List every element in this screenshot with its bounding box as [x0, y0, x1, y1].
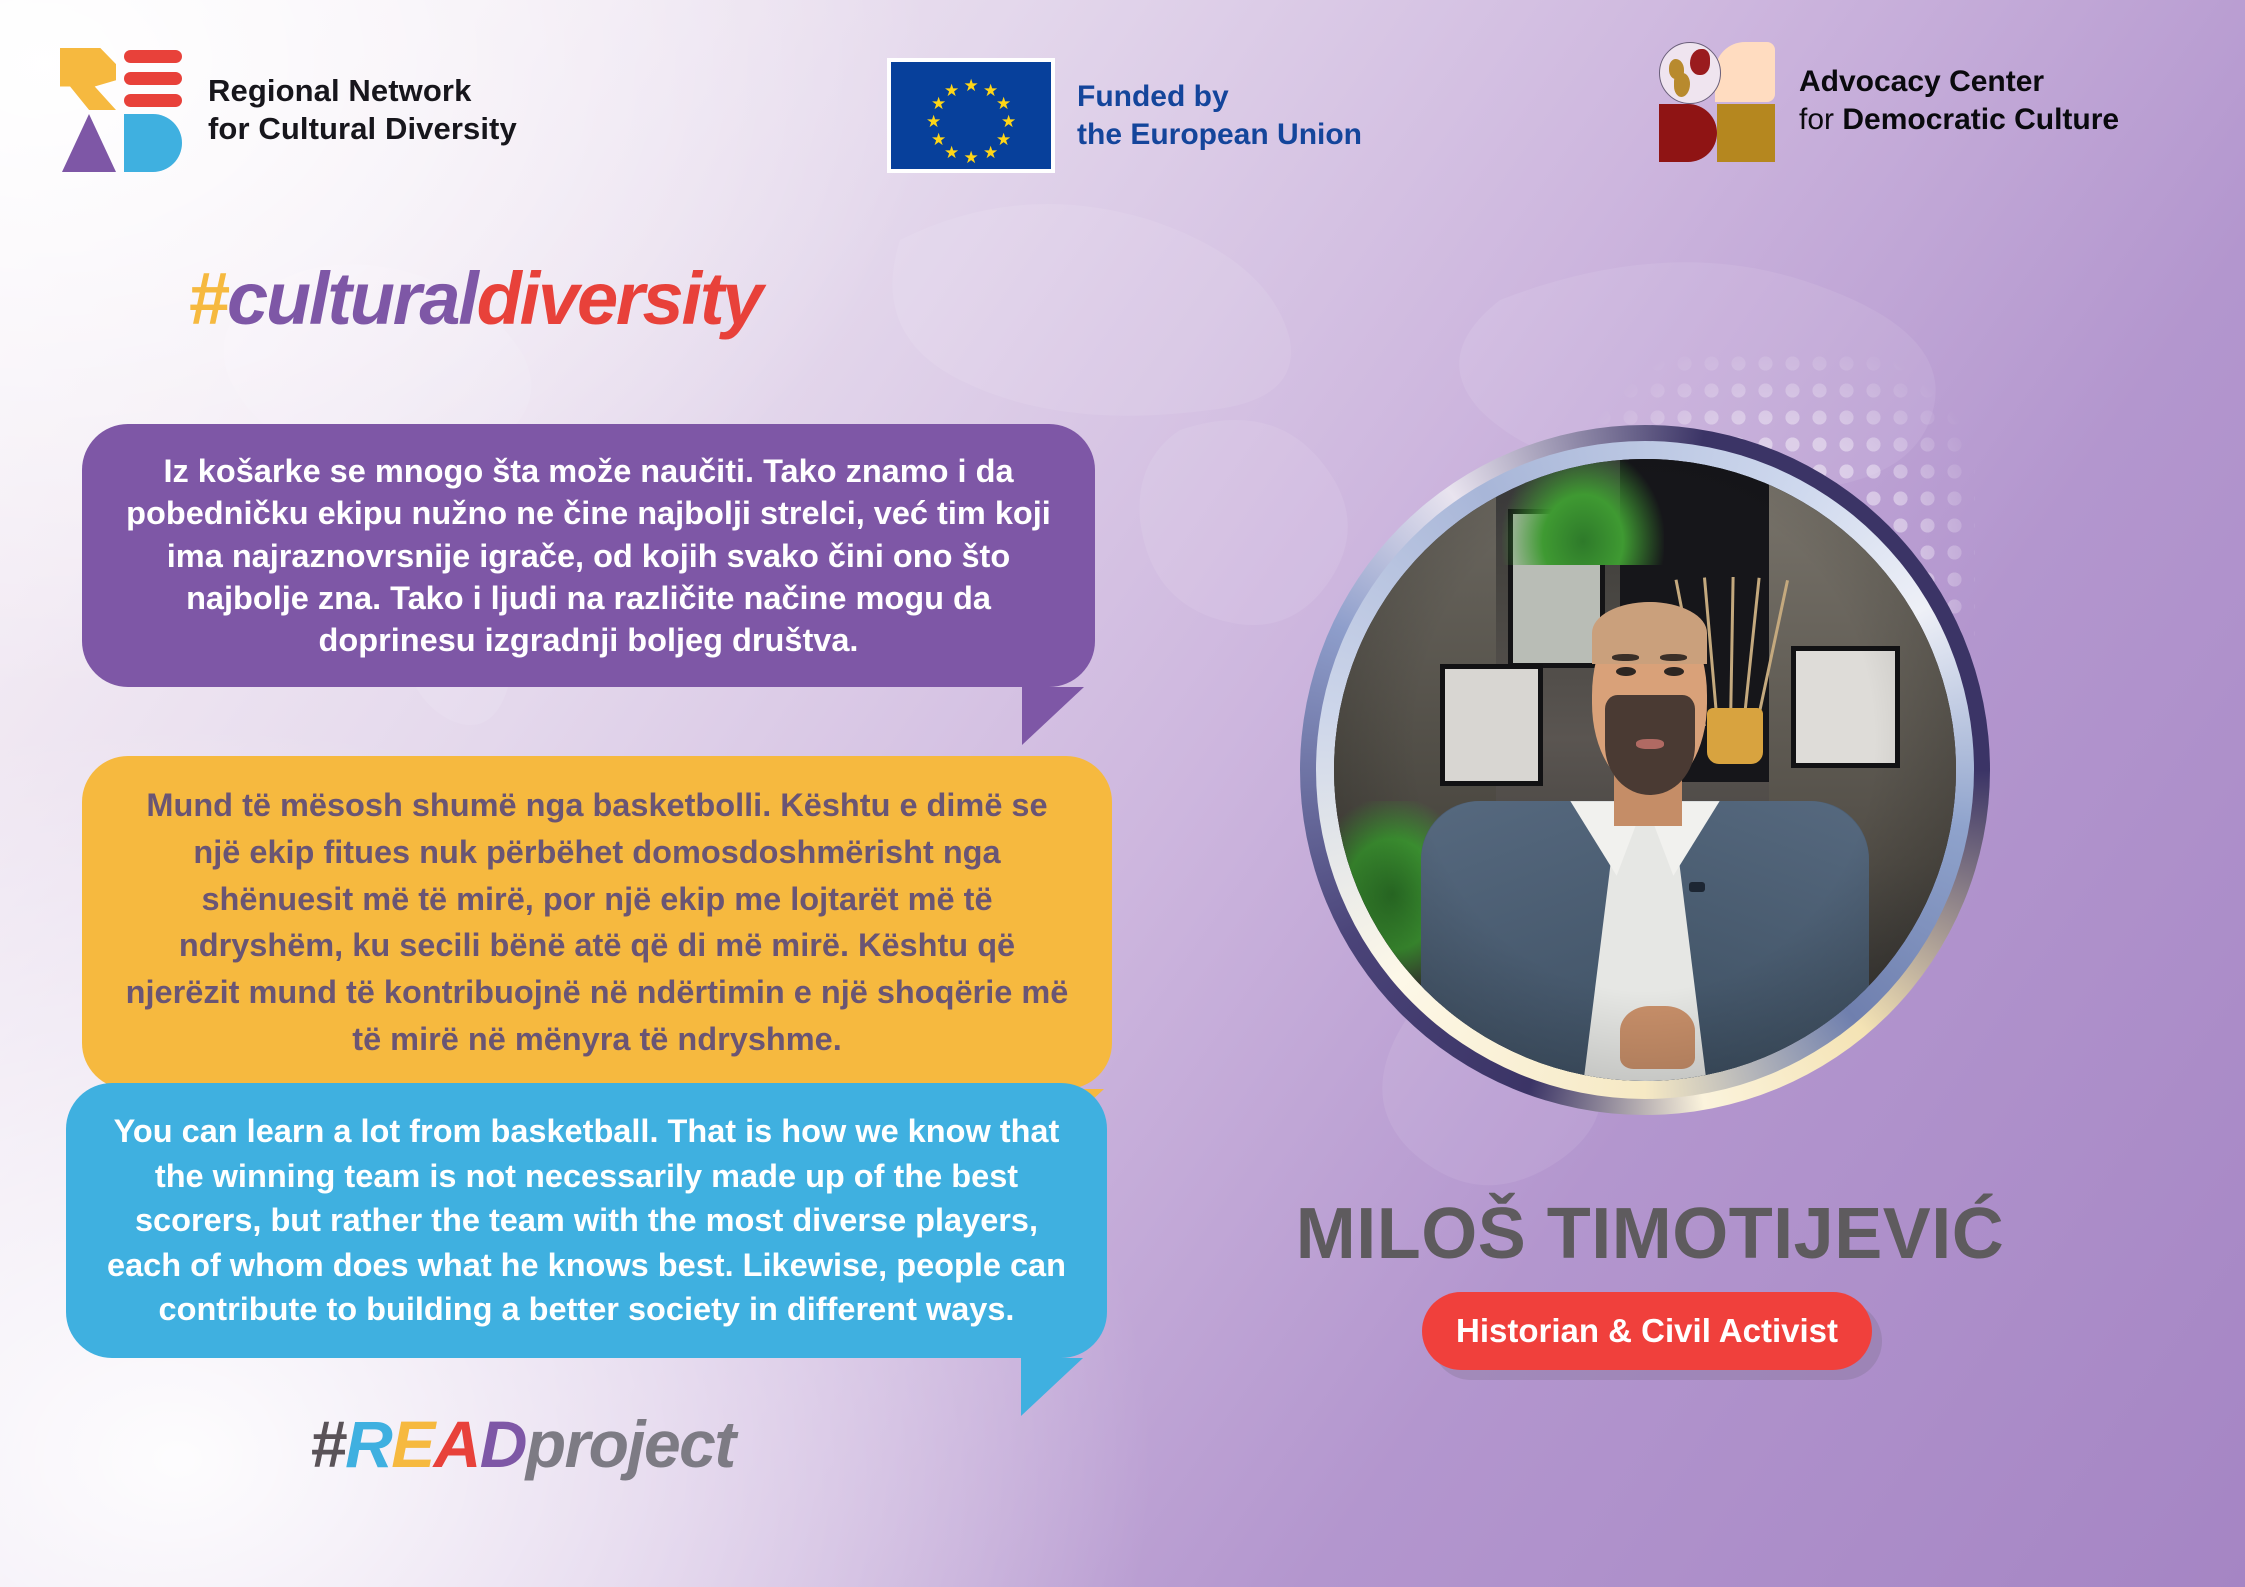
bubble-tail: [1021, 1358, 1083, 1416]
photo-vignette: [1334, 459, 1956, 1081]
person-name: MILOŠ TIMOTIJEVIĆ: [1235, 1193, 2065, 1275]
read-mark-e-shape: [124, 50, 182, 108]
read-logo: Regional Network for Cultural Diversity: [60, 48, 517, 172]
read-logo-text: Regional Network for Cultural Diversity: [208, 72, 517, 148]
hashtag-letter-e: E: [391, 1407, 433, 1481]
quote-bubble-serbian: Iz košarke se mnogo šta može naučiti. Ta…: [82, 424, 1095, 687]
read-logo-line1: Regional Network: [208, 72, 517, 110]
advocacy-center-logo: Advocacy Center for Democratic Culture: [1655, 40, 2119, 162]
quote-text-english: You can learn a lot from basketball. Tha…: [107, 1113, 1066, 1327]
hashtag-symbol: #: [188, 257, 227, 340]
poster-canvas: Regional Network for Cultural Diversity …: [0, 0, 2245, 1587]
hashtag-cultural-diversity: #culturaldiversity: [188, 256, 761, 341]
quote-bubble-english: You can learn a lot from basketball. Tha…: [66, 1083, 1107, 1358]
quote-bubble-albanian: Mund të mësosh shumë nga basketbolli. Kë…: [82, 756, 1112, 1089]
hashtag-letter-d: D: [480, 1407, 526, 1481]
person-role-badge: Historian & Civil Activist: [1422, 1292, 1872, 1370]
portrait-photo: [1334, 459, 1956, 1081]
hashtag-part-diversity: diversity: [477, 257, 762, 340]
photo-content: [1334, 459, 1956, 1081]
header-logo-bar: Regional Network for Cultural Diversity …: [0, 0, 2245, 210]
eu-text-line1: Funded by: [1077, 78, 1362, 115]
portrait-frame: [1300, 425, 1990, 1115]
hashtag-letter-r: R: [345, 1407, 391, 1481]
read-mark-a-shape: [62, 114, 116, 172]
acdc-logo-mark-icon: [1655, 40, 1775, 162]
eu-funding-logo: ★ ★ ★ ★ ★ ★ ★ ★ ★ ★ ★ ★ Funded by the Eu…: [887, 58, 1362, 173]
acdc-mark-beige-shape: [1715, 42, 1775, 102]
read-logo-line2: for Cultural Diversity: [208, 110, 517, 148]
hashtag-part-cultural: cultural: [227, 257, 477, 340]
eu-flag-icon: ★ ★ ★ ★ ★ ★ ★ ★ ★ ★ ★ ★: [887, 58, 1055, 173]
acdc-mark-darkred-shape: [1659, 104, 1717, 162]
read-logo-mark-icon: [60, 48, 182, 172]
advocacy-center-text: Advocacy Center for Democratic Culture: [1799, 63, 2119, 139]
globe-icon: [1659, 42, 1721, 104]
acdc-text-line2: for Democratic Culture: [1799, 101, 2119, 139]
acdc-text-line1: Advocacy Center: [1799, 63, 2119, 101]
bubble-tail: [1022, 687, 1084, 745]
read-mark-d-shape: [124, 114, 182, 172]
quote-text-albanian: Mund të mësosh shumë nga basketbolli. Kë…: [126, 787, 1069, 1057]
read-mark-r-shape: [60, 48, 116, 110]
hashtag-word-project: project: [526, 1407, 735, 1481]
eu-funding-text: Funded by the European Union: [1077, 78, 1362, 152]
hashtag-read-project: #READproject: [310, 1406, 735, 1482]
hashtag-symbol: #: [310, 1407, 345, 1481]
hashtag-letter-a: A: [434, 1407, 480, 1481]
eu-text-line2: the European Union: [1077, 116, 1362, 153]
acdc-mark-gold-shape: [1717, 104, 1775, 162]
quote-text-serbian: Iz košarke se mnogo šta može naučiti. Ta…: [126, 453, 1051, 658]
